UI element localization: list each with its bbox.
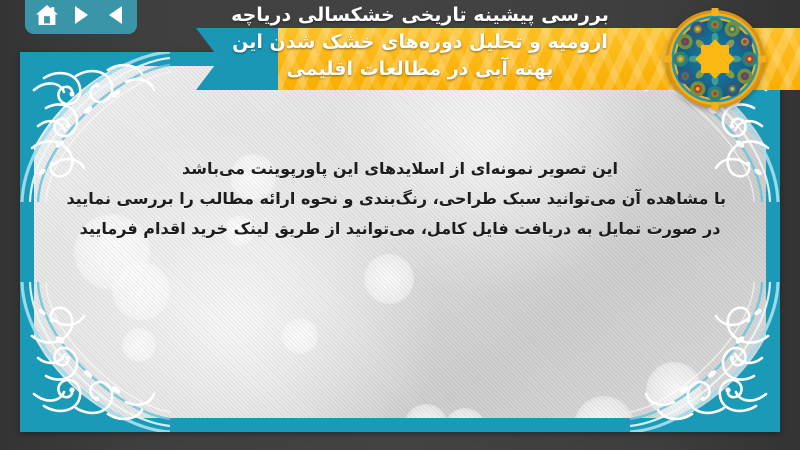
triangle-left-icon [109,6,122,24]
home-icon [35,4,59,26]
home-button[interactable] [34,2,60,28]
bokeh-circle [364,254,414,304]
page-title: بررسی پیشینه تاریخی خشکسالی دریاچه ارومی… [160,2,680,83]
persian-medallion-ornament [664,8,766,110]
body-line: با مشاهده آن می‌توانید سبک طراحی، رنگ‌بن… [74,184,726,214]
body-line: این تصویر نمونه‌ای از اسلایدهای این پاور… [74,154,726,184]
bokeh-circle [282,318,318,354]
forward-button[interactable] [68,2,94,28]
slide-body-text: این تصویر نمونه‌ای از اسلایدهای این پاور… [74,154,726,244]
bokeh-circle [112,262,170,320]
back-button[interactable] [102,2,128,28]
body-line: در صورت تمایل به دریافت فایل کامل، می‌تو… [74,214,726,244]
bokeh-circle [404,404,448,418]
slide-content-panel: این تصویر نمونه‌ای از اسلایدهای این پاور… [34,66,766,418]
navigation-bar [25,0,137,34]
slide-stage: بررسی پیشینه تاریخی خشکسالی دریاچه ارومی… [0,0,800,450]
bokeh-circle [574,396,634,418]
triangle-right-icon [75,6,88,24]
bokeh-circle [646,362,702,418]
bokeh-circle [444,408,486,418]
bokeh-circle [122,328,156,362]
